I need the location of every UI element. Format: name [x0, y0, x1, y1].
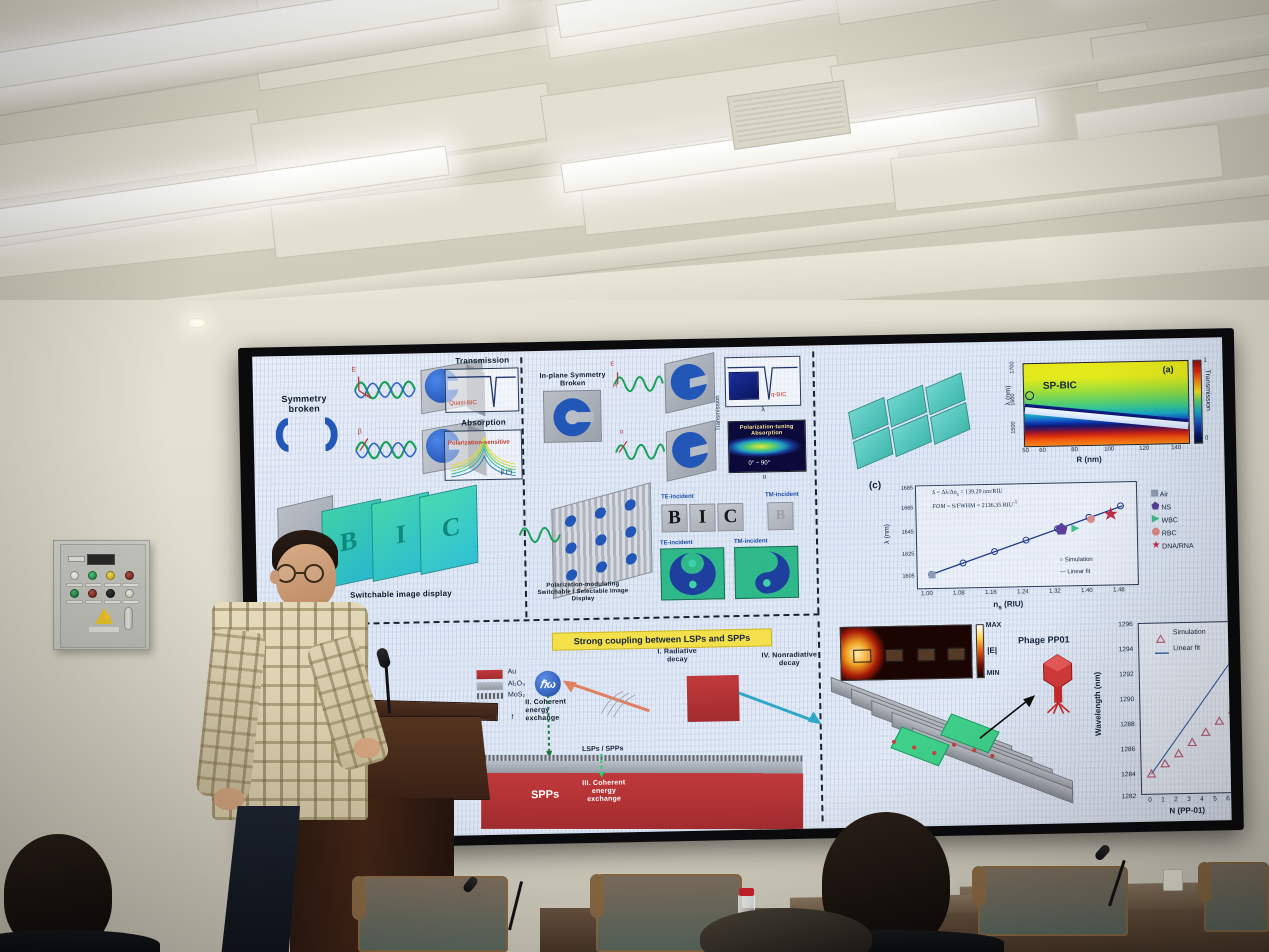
q2-qbic-label: q-BIC: [771, 392, 786, 398]
presenter-legs: [220, 806, 300, 952]
q2-alpha-axis: α: [763, 474, 767, 480]
panel-c-analyte-legend: Air NS WBC RBC DNA/RNA: [1151, 488, 1194, 554]
q4-nanocube: [687, 675, 740, 722]
wall-power-outlet[interactable]: [1163, 869, 1183, 891]
legend-item-rbc: RBC: [1152, 527, 1194, 541]
q4-legend-mos2-swatch: [477, 693, 503, 700]
q1-wave-2: [354, 431, 421, 468]
legend-item-ns: NS: [1151, 501, 1193, 515]
q6-xticks: 01 23 45 67 8: [1141, 795, 1231, 797]
panel-a-colorbar-label: Transmission: [1204, 369, 1212, 411]
q6-legend-linearfit: Linear fit: [1173, 645, 1200, 653]
q1-label-beta: β: [358, 429, 362, 436]
panel-handle[interactable]: [124, 607, 133, 630]
q4-nonradiative-arrow: [737, 687, 824, 729]
q5-phage-icon: [1038, 652, 1077, 715]
q1-quasi-bic-label: Quasi-BIC: [449, 400, 477, 407]
legend-item-dnarna: DNA/RNA: [1152, 540, 1194, 554]
recessed-downlight-1: [186, 318, 208, 328]
q2-wave-2: [614, 434, 667, 469]
panel-c-yticks: 1685 1665 1645 1625 1605: [891, 485, 917, 589]
q1-absorption-title: Absorption: [443, 417, 523, 428]
q4-step3-arrow: [598, 754, 604, 778]
indicator-lamp-4[interactable]: [125, 571, 134, 580]
q6-legend-simulation: Simulation: [1173, 629, 1206, 637]
q1-transmission-title: Transmission: [442, 355, 522, 366]
indicator-lamp-8[interactable]: [125, 589, 134, 598]
panel-a-ytick-1600: 1600: [1010, 393, 1016, 405]
panel-c-eq-2: FOM = S/FWHM = 2136.35 RIU-1: [932, 500, 1017, 510]
legend-item-air: Air: [1151, 488, 1193, 502]
presentation-scene: ⚡ Symmetry broken: [0, 0, 1269, 952]
presenter-hand-right: [354, 738, 380, 758]
q2-label-alpha: α: [620, 429, 624, 435]
conference-chair-3[interactable]: [978, 866, 1128, 936]
panel-lamp-label-1: [66, 583, 83, 587]
suspended-ceiling: [0, 0, 1269, 300]
q2-alpha-range-label: 0° ~ 90°: [748, 460, 770, 466]
panel-a-ytick-1700: 1700: [1009, 361, 1015, 373]
q1-bracket-right: [311, 417, 338, 452]
q1-label-E: E: [351, 367, 356, 374]
panel-display: [87, 554, 115, 565]
q1-wave-1: [353, 371, 420, 408]
q1-beta-axis-label: β (°): [500, 470, 512, 476]
legend-item-wbc: WBC: [1152, 514, 1194, 528]
q2-pol-tuning-label: Polarization-tuning Absorption: [732, 424, 802, 438]
q2-tm-letter: B: [767, 502, 794, 531]
divider-vertical-1: [520, 357, 527, 617]
panel-c-xlabel: ns (RIU): [993, 599, 1023, 611]
q3-metasurface-array: [839, 360, 984, 472]
water-bottle-cap: [739, 888, 754, 896]
panel-a-colorbar-max: 1: [1203, 358, 1206, 364]
glasses-lens-right: [304, 564, 324, 583]
panel-c-legend-linearfit: — Linear fit: [1060, 569, 1091, 576]
q4-step1-label: I. Radiative decay: [646, 648, 708, 665]
panel-c-plot: S = Δλ/Δns = 139.29 nm/RIU FOM = S/FWHM …: [915, 481, 1139, 589]
panel-a-colorbar-min: 0: [1205, 436, 1208, 442]
panel-a-colorbar: [1192, 360, 1203, 444]
conference-chair-1[interactable]: [358, 876, 508, 952]
panel-lamp-label-6: [85, 600, 102, 604]
q2-transmission-plot: [724, 356, 801, 408]
panel-c-legend-simulation: ○ Simulation: [1059, 557, 1092, 564]
panel-door[interactable]: ⚡: [60, 544, 146, 648]
q2-inplane-label: In-plane Symmetry Broken: [535, 372, 611, 390]
chair-4-arm: [1198, 862, 1211, 902]
q4-legend-al2o3-label: Al₂O₃: [508, 680, 525, 687]
q1-pol-sensitive-label: Polarization-sensitive: [448, 440, 510, 447]
q2-wave-1: [612, 366, 665, 401]
panel-a-ytick-1500: 1500: [1011, 421, 1017, 433]
q2-bic-letter-B: B: [661, 504, 688, 533]
q2-bic-letter-I: I: [689, 503, 716, 532]
q6-xlabel: N (PP-01): [1169, 806, 1205, 816]
high-voltage-icon: ⚡: [95, 608, 114, 625]
q1-label-H: H: [365, 392, 370, 399]
chair-1-arm: [352, 876, 366, 920]
panel-c-tag: (c): [869, 480, 881, 491]
q4-legend-mos2-label: MoS₂: [508, 691, 525, 698]
q2-inset-field: [729, 372, 760, 401]
q5-phage-label: Phage PP01: [1018, 634, 1070, 645]
indicator-lamp-5[interactable]: [70, 589, 79, 598]
q4-banner: Strong coupling between LSPs and SPPs: [552, 628, 772, 650]
q1-symmetry-broken-label: Symmetry broken: [267, 393, 341, 415]
divider-vertical-2: [812, 351, 819, 613]
q4-photon-icon: ℏω: [535, 671, 562, 698]
q5-efield-symbol: |E|: [987, 646, 997, 655]
q2-label-H: H: [613, 383, 617, 389]
q2-lambda-axis: λ: [761, 406, 765, 413]
q4-legend-al2o3-swatch: [477, 682, 503, 691]
chair-3-arm: [972, 866, 986, 906]
q2-label-E: E: [610, 361, 614, 367]
q4-step2-arrow: [545, 695, 552, 759]
q4-legend-au-label: Au: [507, 668, 516, 675]
panel-a-xlabel: R (nm): [1076, 455, 1102, 465]
panel-lamp-label-4: [122, 583, 139, 587]
q4-step3-label: III. Coherent energy exchange: [579, 779, 629, 804]
conference-chair-4[interactable]: [1204, 862, 1269, 932]
q2-te-label-bottom: TE-incident: [660, 540, 693, 547]
q4-spps-label: SPPs: [531, 789, 559, 802]
q4-step4-label: IV. Nonradiative decay: [758, 651, 820, 668]
indicator-lamp-6[interactable]: [88, 589, 97, 598]
q2-yinyang-tm: [734, 546, 799, 599]
panel-a-sp-bic-label: SP-BIC: [1043, 380, 1077, 392]
q6-yticks: 1296 1294 1292 1290 1288 1286 1284 1282: [1104, 621, 1138, 798]
panel-c-eq-1: S = Δλ/Δns = 139.29 nm/RIU: [932, 489, 1003, 499]
panel-a-tag: (a): [1163, 364, 1174, 374]
panel-lamp-label-8: [122, 600, 139, 604]
q5-efield-colorbar: [976, 624, 985, 678]
q2-transmission-axis: Transmission: [715, 395, 722, 431]
q1-bracket-left: [275, 418, 302, 453]
q4-legend-au-swatch: [477, 670, 503, 680]
panel-lamp-label-5: [66, 600, 83, 604]
indicator-lamp-7[interactable]: [106, 589, 115, 598]
presenter-glasses: [276, 564, 338, 586]
panel-lamp-label-7: [104, 600, 121, 604]
q6-plot: Simulation Linear fit: [1138, 621, 1232, 795]
q5-phage-pointer: [977, 693, 1038, 742]
panel-arrow-label: [68, 556, 85, 562]
q2-pol-modulating-label: Polarization-modulating Switchable / Sel…: [531, 581, 635, 604]
q1-bic-letter-C: C: [441, 511, 460, 545]
q5-efield-max-label: MAX: [986, 622, 1002, 629]
q4-au-substrate: [481, 773, 803, 829]
q2-wave-3: [517, 517, 562, 554]
chair-2-arm: [590, 874, 604, 918]
q4-lsps-spps-label: LSPs / SPPs: [582, 745, 623, 753]
panel-c-ylabel: λ (nm): [884, 524, 891, 544]
indicator-lamp-1[interactable]: [70, 571, 79, 580]
indicator-lamp-3[interactable]: [106, 571, 115, 580]
panel-lamp-label-2: [85, 583, 102, 587]
indicator-lamp-2[interactable]: [88, 571, 97, 580]
q2-tm-label-top: TM-incident: [765, 492, 799, 499]
q6-ylabel: Wavelength (nm): [1093, 672, 1103, 736]
panel-lamp-label-3: [104, 583, 121, 587]
presenter-ear: [270, 570, 280, 584]
q2-tm-label-bottom: TM-incident: [734, 538, 768, 545]
warning-text-plate: [89, 627, 119, 632]
q2-yinyang-te: [660, 547, 725, 600]
electrical-control-panel[interactable]: ⚡: [53, 540, 150, 650]
q4-thickness-label: t: [511, 714, 513, 721]
glasses-bridge: [296, 572, 305, 574]
q2-te-label-top: TE-incident: [661, 494, 694, 501]
q2-bic-letter-C: C: [717, 503, 744, 532]
